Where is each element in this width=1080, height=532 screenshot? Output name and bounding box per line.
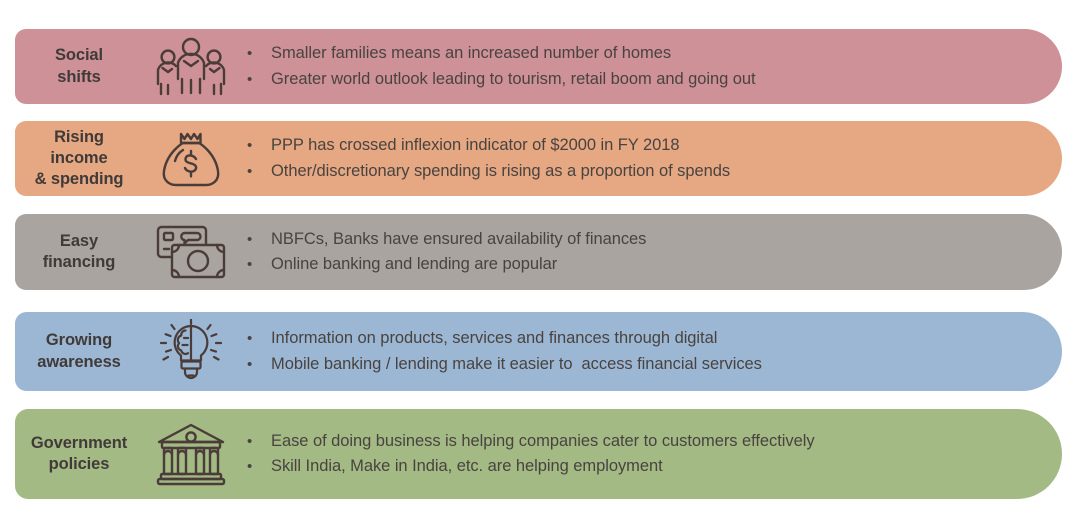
bullet-marker: • [247, 229, 271, 252]
bullet-text: Greater world outlook leading to tourism… [271, 67, 756, 92]
row-label: Government policies [31, 433, 127, 475]
row-label: Rising income & spending [35, 127, 124, 190]
diagram-row-social-shifts[interactable]: Social shifts • Smaller families me [15, 29, 1062, 104]
row-label-container: Social shifts [15, 29, 143, 104]
bullet-item: • Greater world outlook leading to touri… [247, 67, 1062, 92]
bullet-text: PPP has crossed inflexion indicator of $… [271, 133, 680, 158]
bullet-text: Online banking and lending are popular [271, 252, 557, 277]
bullet-text: Smaller families means an increased numb… [271, 41, 671, 66]
bullet-item: • PPP has crossed inflexion indicator of… [247, 133, 1062, 158]
row-bullets: • NBFCs, Banks have ensured availability… [239, 214, 1062, 290]
diagram-row-rising-income-and-spending[interactable]: Rising income & spending • PPP has cross… [15, 121, 1062, 196]
row-bullets: • Smaller families means an increased nu… [239, 29, 1062, 104]
row-label-container: Easy financing [15, 214, 143, 290]
bullet-marker: • [247, 43, 271, 66]
bullet-marker: • [247, 431, 271, 454]
row-label: Social shifts [55, 45, 103, 87]
row-label: Easy financing [43, 231, 115, 273]
three-people-icon [143, 29, 239, 104]
bullet-text: Skill India, Make in India, etc. are hel… [271, 454, 663, 479]
diagram-row-government-policies[interactable]: Government policies • Ease of doing busi… [15, 409, 1062, 499]
lightbulb-brain-icon [143, 312, 239, 391]
row-label: Growing awareness [37, 330, 121, 372]
bullet-text: Mobile banking / lending make it easier … [271, 352, 762, 377]
bullet-text: NBFCs, Banks have ensured availability o… [271, 227, 646, 252]
row-bullets: • PPP has crossed inflexion indicator of… [239, 121, 1062, 196]
bullet-text: Information on products, services and fi… [271, 326, 717, 351]
bullet-marker: • [247, 161, 271, 184]
bullet-marker: • [247, 135, 271, 158]
bullet-item: • Information on products, services and … [247, 326, 1062, 351]
bullet-item: • Online banking and lending are popular [247, 252, 1062, 277]
bullet-marker: • [247, 328, 271, 351]
bullet-item: • Other/discretionary spending is rising… [247, 159, 1062, 184]
bullet-text: Ease of doing business is helping compan… [271, 429, 815, 454]
bullet-item: • NBFCs, Banks have ensured availability… [247, 227, 1062, 252]
card-and-banknote-icon [143, 214, 239, 290]
government-building-icon [143, 409, 239, 499]
bullet-item: • Ease of doing business is helping comp… [247, 429, 1062, 454]
bullet-item: • Skill India, Make in India, etc. are h… [247, 454, 1062, 479]
row-label-container: Government policies [15, 409, 143, 499]
bullet-item: • Mobile banking / lending make it easie… [247, 352, 1062, 377]
bullet-item: • Smaller families means an increased nu… [247, 41, 1062, 66]
row-bullets: • Ease of doing business is helping comp… [239, 409, 1062, 499]
bullet-marker: • [247, 69, 271, 92]
bullet-marker: • [247, 254, 271, 277]
diagram-row-growing-awareness[interactable]: Growing awareness • Information on produ… [15, 312, 1062, 391]
row-bullets: • Information on products, services and … [239, 312, 1062, 391]
row-label-container: Rising income & spending [15, 121, 143, 196]
diagram-row-easy-financing[interactable]: Easy financing • NBFCs, Banks have ensur… [15, 214, 1062, 290]
bullet-marker: • [247, 456, 271, 479]
bullet-marker: • [247, 354, 271, 377]
bullet-text: Other/discretionary spending is rising a… [271, 159, 730, 184]
row-label-container: Growing awareness [15, 312, 143, 391]
diagram-canvas: Social shifts • Smaller families me [0, 0, 1080, 532]
money-bag-icon [143, 121, 239, 196]
